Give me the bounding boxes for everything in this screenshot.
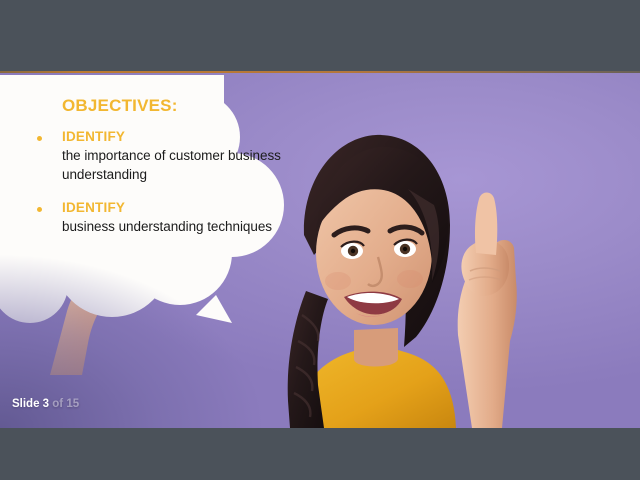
slide-canvas: OBJECTIVES: IDENTIFY the importance of c… bbox=[0, 73, 640, 428]
presenter-eyebrow-right bbox=[390, 227, 422, 233]
presenter-index-finger bbox=[475, 192, 497, 255]
objectives-list: IDENTIFY the importance of customer busi… bbox=[34, 128, 284, 250]
objectives-heading: OBJECTIVES: bbox=[62, 96, 178, 116]
presenter-hair-back bbox=[304, 135, 450, 347]
slide-header: Customer Business Understanding Learning… bbox=[0, 33, 640, 73]
slide-counter-total: of 15 bbox=[52, 398, 79, 410]
objectives-panel: OBJECTIVES: IDENTIFY the importance of c… bbox=[0, 73, 300, 363]
presenter-arm bbox=[458, 240, 517, 428]
presenter-eyebrow-left bbox=[334, 228, 368, 235]
window-top-band bbox=[0, 0, 640, 33]
objective-verb: IDENTIFY bbox=[62, 128, 284, 146]
slide-viewer: Customer Business Understanding Learning… bbox=[0, 0, 640, 480]
presenter-teeth bbox=[347, 293, 399, 303]
presenter-face bbox=[316, 181, 432, 325]
presenter-neck bbox=[354, 328, 398, 367]
presenter-shirt bbox=[296, 344, 456, 428]
presenter-eye-left bbox=[341, 243, 363, 259]
presenter-photo bbox=[258, 85, 640, 428]
objective-item-1: IDENTIFY the importance of customer busi… bbox=[34, 128, 284, 185]
objective-item-2: IDENTIFY business understanding techniqu… bbox=[34, 199, 284, 236]
objective-text: business understanding techniques bbox=[62, 217, 284, 236]
window-bottom-band bbox=[0, 428, 640, 480]
presenter-mouth bbox=[344, 292, 402, 315]
bullet-icon bbox=[37, 136, 42, 141]
slide-counter-current: Slide 3 bbox=[12, 398, 49, 410]
objective-text: the importance of customer business unde… bbox=[62, 146, 284, 184]
presenter-hair-front bbox=[316, 147, 448, 283]
slide-counter: Slide 3 of 15 bbox=[12, 398, 79, 410]
presenter-nose bbox=[368, 257, 382, 286]
bullet-icon bbox=[37, 207, 42, 212]
presenter-fist bbox=[461, 240, 509, 296]
objective-verb: IDENTIFY bbox=[62, 199, 284, 217]
presenter-eye-right bbox=[394, 241, 416, 257]
